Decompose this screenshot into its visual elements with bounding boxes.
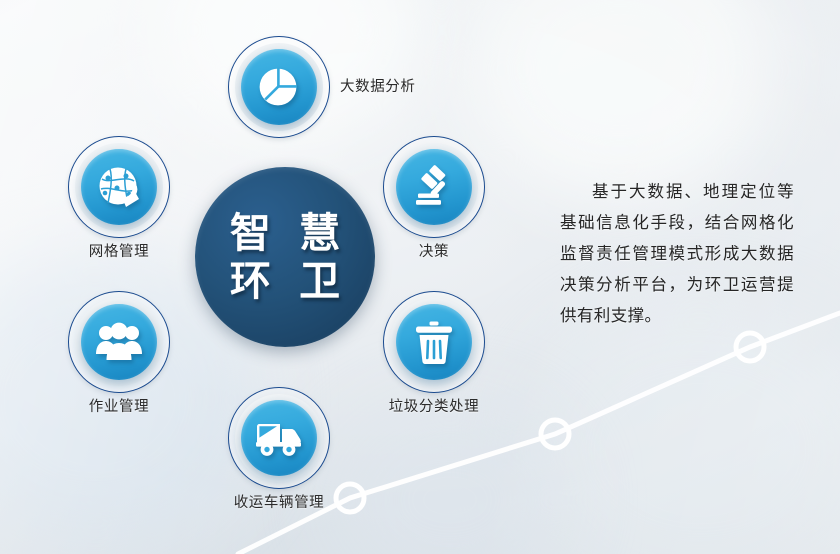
description-paragraph: 基于大数据、地理定位等基础信息化手段，结合网格化监督责任管理模式形成大数据决策分… — [560, 176, 794, 331]
node-disc — [396, 304, 472, 380]
trash-bin-icon — [412, 319, 456, 365]
node-disc — [241, 400, 317, 476]
node-grid-management[interactable]: 网格管理 — [68, 136, 170, 238]
garbage-truck-icon — [254, 418, 304, 458]
node-decision[interactable]: 决策 — [383, 136, 485, 238]
network-globe-icon — [95, 163, 143, 211]
node-label-waste-sorting: 垃圾分类处理 — [334, 395, 534, 416]
description-block: 基于大数据、地理定位等基础信息化手段，结合网格化监督责任管理模式形成大数据决策分… — [560, 176, 794, 331]
node-waste-sorting[interactable]: 垃圾分类处理 — [383, 291, 485, 393]
node-operation-management[interactable]: 作业管理 — [68, 291, 170, 393]
node-label-collection-vehicle-management: 收运车辆管理 — [179, 491, 379, 512]
infographic-canvas: 智 慧 环 卫 大数据分析 — [0, 0, 840, 554]
node-label-operation-management: 作业管理 — [19, 395, 219, 416]
node-disc — [396, 149, 472, 225]
node-disc — [81, 304, 157, 380]
node-disc — [81, 149, 157, 225]
gavel-icon — [411, 164, 457, 210]
pie-chart-icon — [257, 65, 301, 109]
node-label-big-data-analysis: 大数据分析 — [340, 72, 416, 102]
node-big-data-analysis[interactable]: 大数据分析 — [228, 36, 330, 138]
node-collection-vehicle-management[interactable]: 收运车辆管理 — [228, 387, 330, 489]
node-disc — [241, 49, 317, 125]
people-group-icon — [95, 320, 143, 364]
node-label-grid-management: 网格管理 — [19, 240, 219, 261]
node-label-decision: 决策 — [334, 240, 534, 261]
hub-title-line-2: 环 卫 — [223, 257, 347, 305]
hub-title-line-1: 智 慧 — [223, 209, 347, 257]
